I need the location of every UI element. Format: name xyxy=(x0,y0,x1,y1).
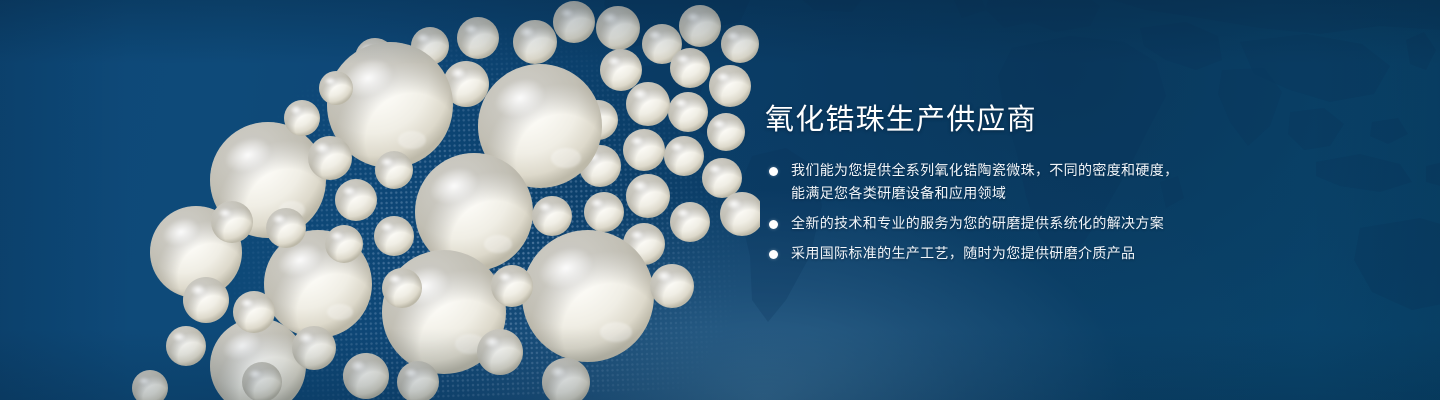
feature-bullet-2: 全新的技术和专业的服务为您的研磨提供系统化的解决方案 xyxy=(765,213,1405,236)
feature-bullet-1-line-1: 我们能为您提供全系列氧化锆陶瓷微珠，不同的密度和硬度， xyxy=(791,160,1405,183)
banner-headline: 氧化锆珠生产供应商 xyxy=(765,104,1405,134)
feature-bullet-1: 我们能为您提供全系列氧化锆陶瓷微珠，不同的密度和硬度， 能满足您各类研磨设备和应… xyxy=(765,160,1405,206)
banner-text-content: 氧化锆珠生产供应商 我们能为您提供全系列氧化锆陶瓷微珠，不同的密度和硬度， 能满… xyxy=(765,104,1405,266)
bullet-dot-icon xyxy=(769,167,778,176)
feature-bullet-3-line-1: 采用国际标准的生产工艺，随时为您提供研磨介质产品 xyxy=(791,243,1405,266)
bullet-dot-icon xyxy=(769,250,778,259)
bullet-dot-icon xyxy=(769,220,778,229)
feature-bullet-1-line-2: 能满足您各类研磨设备和应用领域 xyxy=(791,183,1405,206)
feature-bullet-3: 采用国际标准的生产工艺，随时为您提供研磨介质产品 xyxy=(765,243,1405,266)
feature-bullet-list: 我们能为您提供全系列氧化锆陶瓷微珠，不同的密度和硬度， 能满足您各类研磨设备和应… xyxy=(765,160,1405,266)
hero-banner: 氧化锆珠生产供应商 我们能为您提供全系列氧化锆陶瓷微珠，不同的密度和硬度， 能满… xyxy=(0,0,1440,400)
feature-bullet-2-line-1: 全新的技术和专业的服务为您的研磨提供系统化的解决方案 xyxy=(791,213,1405,236)
